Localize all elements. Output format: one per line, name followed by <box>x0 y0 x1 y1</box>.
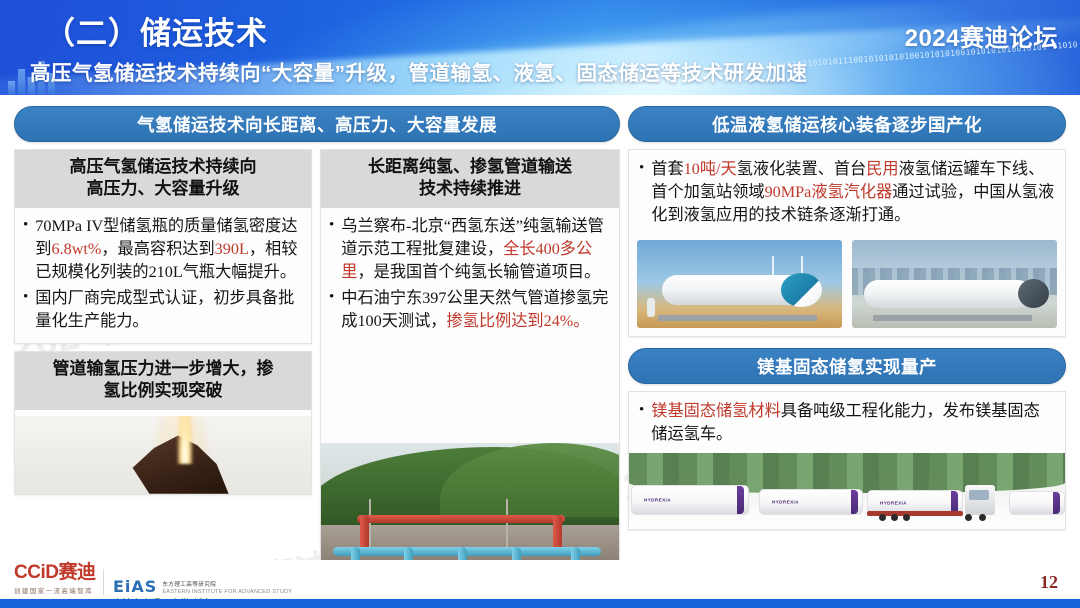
left-subcolumn-a: 高压气氢储运技术持续向高压力、大容量升级 •70MPa IV型储氢瓶的质量储氢密… <box>14 149 312 592</box>
footer-accent-bar <box>0 599 1080 608</box>
panel-pipeline-pressure: 管道输氢压力进一步增大，掺氢比例实现突破 •国家管网通过6.3MPa氢气充装、9… <box>14 351 312 495</box>
bullet-text: 首套10吨/天氢液化装置、首台民用液氢储运罐车下线、首个加氢站领域90MPa液氢… <box>651 158 1055 227</box>
bullet-item: •镁基固态储氢材料具备吨级工程化能力，发布镁基固态储运氢车。 <box>639 400 1055 446</box>
truck-unit <box>1009 481 1065 521</box>
tank-end-cap <box>781 273 822 306</box>
right-column: 低温液氢储运核心装备逐步国产化 •首套10吨/天氢液化装置、首台民用液氢储运罐车… <box>628 106 1066 530</box>
panel-a1-body: •70MPa IV型储氢瓶的质量储氢密度达到6.8wt%，最高容积达到390L，… <box>15 208 311 343</box>
red-pipe-horizontal <box>357 515 566 523</box>
eias-logo-glyph: EiAS <box>113 579 157 595</box>
bullet-text: 镁基固态储氢材料具备吨级工程化能力，发布镁基固态储运氢车。 <box>651 400 1055 446</box>
right-section-header-1: 低温液氢储运核心装备逐步国产化 <box>628 106 1066 142</box>
bullet-dot-icon: • <box>639 400 644 446</box>
slide-root: 1001010101010010101010101010010101011100… <box>0 0 1080 608</box>
panel-magnesium-body: •镁基固态储氢材料具备吨级工程化能力，发布镁基固态储运氢车。 <box>629 392 1065 453</box>
panel-a2-heading: 管道输氢压力进一步增大，掺氢比例实现突破 <box>15 352 311 410</box>
left-section-header: 气氢储运技术向长距离、高压力、大容量发展 <box>14 106 620 142</box>
panel-b-body: •乌兰察布-北京“西氢东送”纯氢输送管道示范工程批复建设，全长400多公里，是我… <box>321 208 619 340</box>
eias-logo: EiAS 东方理工高等研究院 EASTERN INSTITUTE FOR ADV… <box>113 579 292 595</box>
left-subcolumns: 高压气氢储运技术持续向高压力、大容量升级 •70MPa IV型储氢瓶的质量储氢密… <box>14 149 620 592</box>
panel-long-distance-pipeline: 长距离纯氢、掺氢管道输送技术持续推进 •乌兰察布-北京“西氢东送”纯氢输送管道示… <box>320 149 620 592</box>
ccid-logo-text: CCiD赛迪 <box>14 557 95 584</box>
tanker-chassis <box>873 315 1033 321</box>
left-subcolumn-b: 长距离纯氢、掺氢管道输送技术持续推进 •乌兰察布-北京“西氢东送”纯氢输送管道示… <box>320 149 620 592</box>
container-stripe <box>851 490 858 514</box>
ccid-logo-chinese: 赛迪 <box>58 562 95 583</box>
panel-high-pressure-storage: 高压气氢储运技术持续向高压力、大容量升级 •70MPa IV型储氢瓶的质量储氢密… <box>14 149 312 344</box>
container-stripe <box>737 486 744 514</box>
truck-cab <box>965 485 995 515</box>
bullet-item: •中石油宁东397公里天然气管道掺氢完成100天测试，掺氢比例达到24%。 <box>329 287 611 333</box>
hydrogen-flame-photo <box>14 416 311 494</box>
bullet-item: •国内厂商完成型式认证，初步具备批量化生产能力。 <box>23 287 303 333</box>
bullet-text: 70MPa IV型储氢瓶的质量储氢密度达到6.8wt%，最高容积达到390L，相… <box>35 215 303 284</box>
flame-jet <box>177 416 193 464</box>
tanker-body <box>864 280 1032 308</box>
bullet-dot-icon: • <box>329 287 334 333</box>
bullet-dot-icon: • <box>23 287 28 333</box>
eias-logo-line1: 东方理工高等研究院 <box>162 580 292 588</box>
truck-unit: HYDREXIA <box>631 481 753 521</box>
ccid-logo-latin: CCiD <box>14 562 58 583</box>
page-number: 12 <box>1040 572 1058 593</box>
truck-unit: HYDREXIA <box>867 481 1002 521</box>
truck-unit: HYDREXIA <box>759 481 869 521</box>
panel-b-heading: 长距离纯氢、掺氢管道输送技术持续推进 <box>321 150 619 208</box>
eias-logo-line2: EASTERN INSTITUTE FOR ADVANCED STUDY <box>162 589 292 595</box>
bullet-text: 乌兰察布-北京“西氢东送”纯氢输送管道示范工程批复建设，全长400多公里，是我国… <box>341 215 611 284</box>
slide-footer: CCiD赛迪 创建国家一流高端智库 EiAS 东方理工高等研究院 EASTERN… <box>0 560 1080 608</box>
truck-wheels <box>873 514 993 521</box>
forum-brand-label: 2024赛迪论坛 <box>905 18 1058 53</box>
footer-logo-divider <box>103 569 104 595</box>
truck-brand-label: HYDREXIA <box>880 500 907 505</box>
eias-logo-text: 东方理工高等研究院 EASTERN INSTITUTE FOR ADVANCED… <box>162 579 292 595</box>
tanker-end-cap <box>1018 279 1049 308</box>
hydrogen-container <box>1009 491 1065 515</box>
gas-cylinder <box>647 298 655 317</box>
bullet-item: •首套10吨/天氢液化装置、首台民用液氢储运罐车下线、首个加氢站领域90MPa液… <box>639 158 1055 227</box>
slide-header-banner: 1001010101010010101010101010010101011100… <box>0 0 1080 95</box>
bullet-item: •70MPa IV型储氢瓶的质量储氢密度达到6.8wt%，最高容积达到390L，… <box>23 215 303 284</box>
liquid-hydrogen-tanker-truck-photo <box>852 240 1057 328</box>
panel-magnesium-storage: •镁基固态储氢材料具备吨级工程化能力，发布镁基固态储运氢车。 HYDREXIA … <box>628 391 1066 530</box>
hydrogen-container: HYDREXIA <box>631 485 749 515</box>
ccid-logo: CCiD赛迪 创建国家一流高端智库 <box>14 557 95 595</box>
liquid-hydrogen-photos <box>629 234 1065 336</box>
light-pole <box>369 499 371 549</box>
truck-brand-label: HYDREXIA <box>644 498 671 503</box>
light-pole <box>506 499 508 549</box>
page-title: （二）储运技术 <box>44 8 268 53</box>
page-subtitle: 高压气氢储运技术持续向“大容量”升级，管道输氢、液氢、固态储运等技术研发加速 <box>30 56 900 86</box>
container-stripe <box>1053 492 1060 514</box>
bullet-text: 国内厂商完成型式认证，初步具备批量化生产能力。 <box>35 287 303 333</box>
panel-a1-heading: 高压气氢储运技术持续向高压力、大容量升级 <box>15 150 311 208</box>
bullet-dot-icon: • <box>23 215 28 284</box>
hydrogen-container: HYDREXIA <box>759 489 863 515</box>
tank-support-base <box>658 315 818 321</box>
liquid-hydrogen-storage-tank-photo <box>637 240 842 328</box>
panel-liquid-hydrogen: •首套10吨/天氢液化装置、首台民用液氢储运罐车下线、首个加氢站领域90MPa液… <box>628 149 1066 337</box>
right-section-header-2: 镁基固态储氢实现量产 <box>628 348 1066 384</box>
bullet-dot-icon: • <box>329 215 334 284</box>
panel-liquid-hydrogen-body: •首套10吨/天氢液化装置、首台民用液氢储运罐车下线、首个加氢站领域90MPa液… <box>629 150 1065 234</box>
red-pipe-riser <box>360 515 369 549</box>
bullet-dot-icon: • <box>639 158 644 227</box>
left-column: 气氢储运技术向长距离、高压力、大容量发展 高压气氢储运技术持续向高压力、大容量升… <box>14 106 620 592</box>
bullet-text: 中石油宁东397公里天然气管道掺氢完成100天测试，掺氢比例达到24%。 <box>341 287 611 333</box>
bullet-item: •乌兰察布-北京“西氢东送”纯氢输送管道示范工程批复建设，全长400多公里，是我… <box>329 215 611 284</box>
ccid-logo-tagline: 创建国家一流高端智库 <box>14 585 95 595</box>
truck-brand-label: HYDREXIA <box>772 500 799 505</box>
hydrexia-trucks-photo: HYDREXIA HYDREXIA HYDREXIA <box>629 453 1065 529</box>
